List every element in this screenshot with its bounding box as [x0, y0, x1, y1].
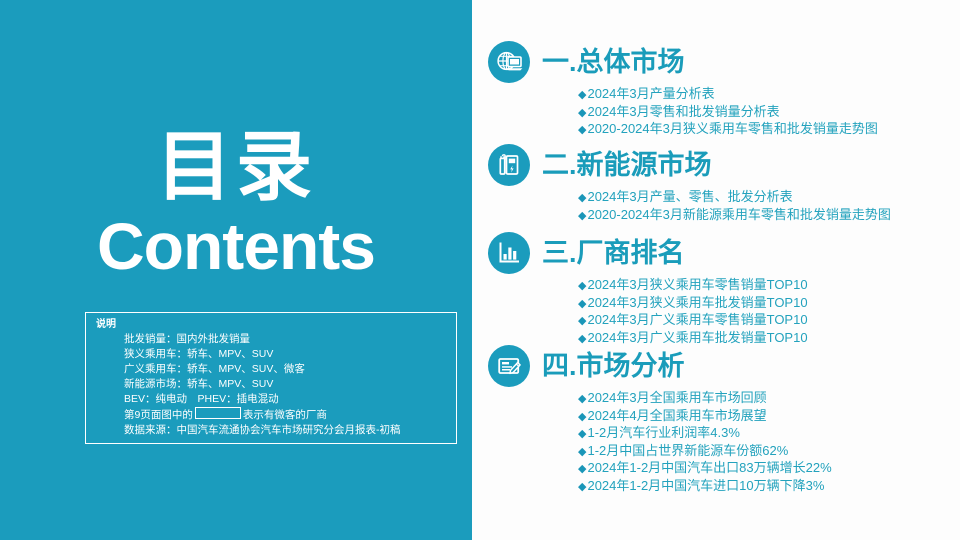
toc-item-label: 2024年4月全国乘用车市场展望	[587, 408, 766, 423]
diamond-bullet-icon: ◆	[578, 393, 586, 405]
toc-section-4-title: 四.市场分析	[542, 353, 685, 380]
toc-item[interactable]: ◆2024年3月狭义乘用车零售销量TOP10	[578, 277, 808, 295]
toc-item-label: 1-2月汽车行业利润率4.3%	[587, 425, 739, 440]
toc-item-label: 2024年3月产量分析表	[587, 86, 714, 101]
toc-item-label: 2024年3月产量、零售、批发分析表	[587, 189, 792, 204]
toc-item[interactable]: ◆2024年3月广义乘用车零售销量TOP10	[578, 312, 808, 330]
diamond-bullet-icon: ◆	[578, 315, 586, 327]
toc-item[interactable]: ◆2024年3月产量分析表	[578, 86, 878, 104]
toc-item-label: 2024年3月广义乘用车批发销量TOP10	[587, 330, 807, 345]
toc-item-label: 2024年3月狭义乘用车零售销量TOP10	[587, 277, 807, 292]
toc-section-4-items: ◆2024年3月全国乘用车市场回顾 ◆2024年4月全国乘用车市场展望 ◆1-2…	[578, 390, 832, 495]
blank-line-prefix: 第9页面图中的	[124, 409, 193, 421]
diamond-bullet-icon: ◆	[578, 481, 586, 493]
note-line: 批发销量：国内外批发销量	[96, 332, 456, 347]
diamond-bullet-icon: ◆	[578, 411, 586, 423]
toc-item[interactable]: ◆2024年4月全国乘用车市场展望	[578, 408, 832, 426]
toc-item[interactable]: ◆2024年3月产量、零售、批发分析表	[578, 189, 891, 207]
toc-item[interactable]: ◆2024年1-2月中国汽车进口10万辆下降3%	[578, 478, 832, 496]
toc-item-label: 2020-2024年3月狭义乘用车零售和批发销量走势图	[587, 121, 877, 136]
note-line: BEV：纯电动 PHEV：插电混动	[96, 392, 456, 407]
diamond-bullet-icon: ◆	[578, 107, 586, 119]
note-line: 广义乘用车：轿车、MPV、SUV、微客	[96, 362, 456, 377]
bar-chart-icon	[488, 232, 530, 274]
note-line-list: 批发销量：国内外批发销量 狭义乘用车：轿车、MPV、SUV 广义乘用车：轿车、M…	[96, 332, 456, 438]
toc-item[interactable]: ◆2024年3月狭义乘用车批发销量TOP10	[578, 295, 808, 313]
diamond-bullet-icon: ◆	[578, 192, 586, 204]
note-heading: 说明	[96, 318, 456, 331]
toc-item-label: 2020-2024年3月新能源乘用车零售和批发销量走势图	[587, 207, 890, 222]
note-line: 狭义乘用车：轿车、MPV、SUV	[96, 347, 456, 362]
toc-item[interactable]: ◆1-2月汽车行业利润率4.3%	[578, 425, 832, 443]
globe-computer-icon	[488, 41, 530, 83]
toc-section-3-items: ◆2024年3月狭义乘用车零售销量TOP10 ◆2024年3月狭义乘用车批发销量…	[578, 277, 808, 347]
toc-item-label: 2024年3月零售和批发销量分析表	[587, 104, 779, 119]
toc-section-4-header[interactable]: 四.市场分析	[488, 344, 832, 388]
diamond-bullet-icon: ◆	[578, 124, 586, 136]
diamond-bullet-icon: ◆	[578, 298, 586, 310]
toc-section-3-title: 三.厂商排名	[542, 240, 685, 267]
toc-item[interactable]: ◆2020-2024年3月狭义乘用车零售和批发销量走势图	[578, 121, 878, 139]
toc-item-label: 1-2月中国占世界新能源车份额62%	[587, 443, 788, 458]
title-block: 目录 Contents	[0, 130, 472, 281]
diamond-bullet-icon: ◆	[578, 428, 586, 440]
toc-panel: 一.总体市场 ◆2024年3月产量分析表 ◆2024年3月零售和批发销量分析表 …	[472, 0, 960, 540]
toc-item[interactable]: ◆2024年3月全国乘用车市场回顾	[578, 390, 832, 408]
left-title-panel: 目录 Contents 说明 批发销量：国内外批发销量 狭义乘用车：轿车、MPV…	[0, 0, 472, 540]
slide-root: 目录 Contents 说明 批发销量：国内外批发销量 狭义乘用车：轿车、MPV…	[0, 0, 960, 540]
toc-item[interactable]: ◆1-2月中国占世界新能源车份额62%	[578, 443, 832, 461]
toc-section-1-items: ◆2024年3月产量分析表 ◆2024年3月零售和批发销量分析表 ◆2020-2…	[578, 86, 878, 139]
toc-item[interactable]: ◆2024年3月零售和批发销量分析表	[578, 104, 878, 122]
toc-section-2[interactable]: 二.新能源市场 ◆2024年3月产量、零售、批发分析表 ◆2020-2024年3…	[488, 143, 891, 224]
note-source-line: 数据来源：中国汽车流通协会汽车市场研究分会月报表-初稿	[96, 423, 456, 438]
note-line-with-blank: 第9页面图中的表示有微客的厂商	[96, 407, 456, 423]
diamond-bullet-icon: ◆	[578, 463, 586, 475]
toc-section-1-header[interactable]: 一.总体市场	[488, 40, 878, 84]
toc-section-3-header[interactable]: 三.厂商排名	[488, 231, 808, 275]
toc-item[interactable]: ◆2020-2024年3月新能源乘用车零售和批发销量走势图	[578, 207, 891, 225]
diamond-bullet-icon: ◆	[578, 280, 586, 292]
ev-charging-station-icon	[488, 144, 530, 186]
toc-item-label: 2024年1-2月中国汽车进口10万辆下降3%	[587, 478, 824, 493]
toc-item-label: 2024年3月全国乘用车市场回顾	[587, 390, 766, 405]
toc-section-2-title: 二.新能源市场	[542, 152, 712, 179]
diamond-bullet-icon: ◆	[578, 333, 586, 345]
toc-item-label: 2024年3月广义乘用车零售销量TOP10	[587, 312, 807, 327]
toc-section-1-title: 一.总体市场	[542, 49, 685, 76]
toc-section-3[interactable]: 三.厂商排名 ◆2024年3月狭义乘用车零售销量TOP10 ◆2024年3月狭义…	[488, 231, 808, 347]
toc-section-1[interactable]: 一.总体市场 ◆2024年3月产量分析表 ◆2024年3月零售和批发销量分析表 …	[488, 40, 878, 139]
toc-section-2-items: ◆2024年3月产量、零售、批发分析表 ◆2020-2024年3月新能源乘用车零…	[578, 189, 891, 224]
note-line: 新能源市场：轿车、MPV、SUV	[96, 377, 456, 392]
blank-line-suffix: 表示有微客的厂商	[243, 409, 327, 421]
blank-swatch-box	[195, 407, 241, 419]
diamond-bullet-icon: ◆	[578, 210, 586, 222]
toc-item[interactable]: ◆2024年1-2月中国汽车出口83万辆增长22%	[578, 460, 832, 478]
document-pen-icon	[488, 345, 530, 387]
page-title-en: Contents	[0, 212, 472, 281]
page-title-cn: 目录	[0, 130, 472, 206]
toc-section-2-header[interactable]: 二.新能源市场	[488, 143, 891, 187]
diamond-bullet-icon: ◆	[578, 446, 586, 458]
toc-item-label: 2024年1-2月中国汽车出口83万辆增长22%	[587, 460, 831, 475]
toc-section-4[interactable]: 四.市场分析 ◆2024年3月全国乘用车市场回顾 ◆2024年4月全国乘用车市场…	[488, 344, 832, 495]
toc-item-label: 2024年3月狭义乘用车批发销量TOP10	[587, 295, 807, 310]
legend-note-box: 说明 批发销量：国内外批发销量 狭义乘用车：轿车、MPV、SUV 广义乘用车：轿…	[85, 312, 457, 444]
diamond-bullet-icon: ◆	[578, 89, 586, 101]
